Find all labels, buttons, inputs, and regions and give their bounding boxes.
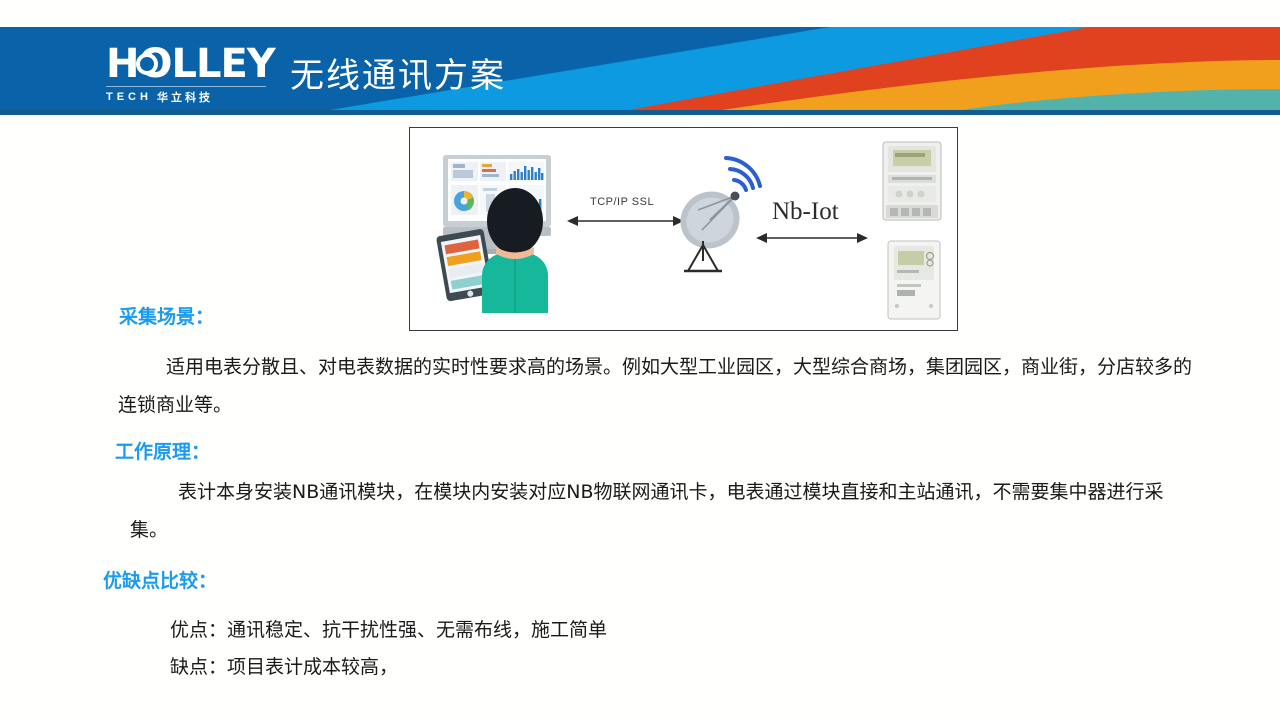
nbiot-link-arrow	[756, 233, 868, 243]
section-body-principle: 表计本身安装NB通讯模块，在模块内安装对应NB物联网通讯卡，电表通过模块直接和主…	[130, 473, 1198, 549]
logo-o-ring-icon	[136, 53, 158, 75]
tcpip-link-arrow	[567, 216, 684, 226]
logo-subtitle: TECH 华立科技	[106, 86, 266, 105]
logo-subtitle-cn: 华立科技	[157, 89, 213, 105]
section-heading-comparison: 优缺点比较：	[103, 566, 217, 593]
network-topology-diagram: TCP/IP SSL Nb-Iot	[409, 127, 958, 331]
diagram-graphics	[410, 128, 957, 329]
logo-subtitle-en: TECH	[106, 91, 152, 103]
logo-wordmark-text: HOLLEY	[106, 41, 275, 87]
nbiot-link-label: Nb-Iot	[772, 198, 839, 226]
slide-title: 无线通讯方案	[290, 48, 506, 97]
satellite-dish-icon	[670, 158, 760, 271]
tcpip-link-label: TCP/IP SSL	[590, 196, 654, 208]
comparison-pros: 优点：通讯稳定、抗干扰性强、无需布线，施工简单	[170, 615, 607, 642]
comparison-cons: 缺点：项目表计成本较高，	[170, 652, 398, 679]
section-heading-principle: 工作原理：	[115, 437, 210, 464]
logo-wordmark: HOLLEY	[106, 44, 266, 84]
electricity-meter-top-icon	[883, 142, 941, 220]
section-body-scene: 适用电表分散且、对电表数据的实时性要求高的场景。例如大型工业园区，大型综合商场，…	[118, 348, 1196, 424]
electricity-meter-bottom-icon	[888, 241, 940, 319]
section-heading-scene: 采集场景：	[119, 302, 214, 329]
header-underline	[0, 110, 1280, 115]
holley-logo: HOLLEY TECH 华立科技	[106, 44, 266, 102]
